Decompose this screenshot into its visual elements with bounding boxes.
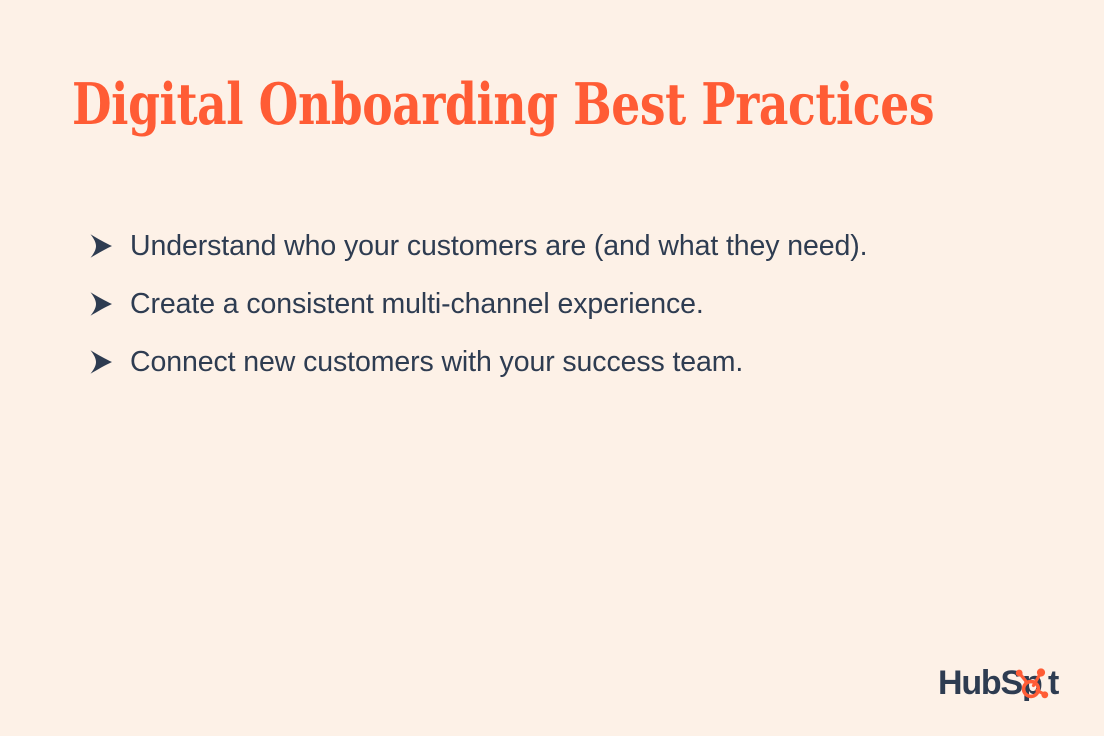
best-practices-list: Understand who your customers are (and w… [88, 226, 1048, 400]
list-item-label: Connect new customers with your success … [130, 342, 1048, 382]
list-item: Understand who your customers are (and w… [88, 226, 1048, 284]
arrowhead-right-icon [88, 289, 114, 319]
list-item-label: Understand who your customers are (and w… [130, 226, 1048, 266]
list-item-label: Create a consistent multi-channel experi… [130, 284, 1048, 324]
slide-canvas: Digital Onboarding Best Practices Unders… [0, 0, 1104, 736]
hubspot-wordmark-suffix: t [1048, 664, 1059, 702]
arrowhead-right-icon [88, 347, 114, 377]
list-item: Connect new customers with your success … [88, 342, 1048, 400]
arrowhead-right-icon [88, 231, 114, 261]
hubspot-logo: HubSp t [938, 660, 1068, 706]
list-item: Create a consistent multi-channel experi… [88, 284, 1048, 342]
page-title: Digital Onboarding Best Practices [72, 72, 792, 138]
